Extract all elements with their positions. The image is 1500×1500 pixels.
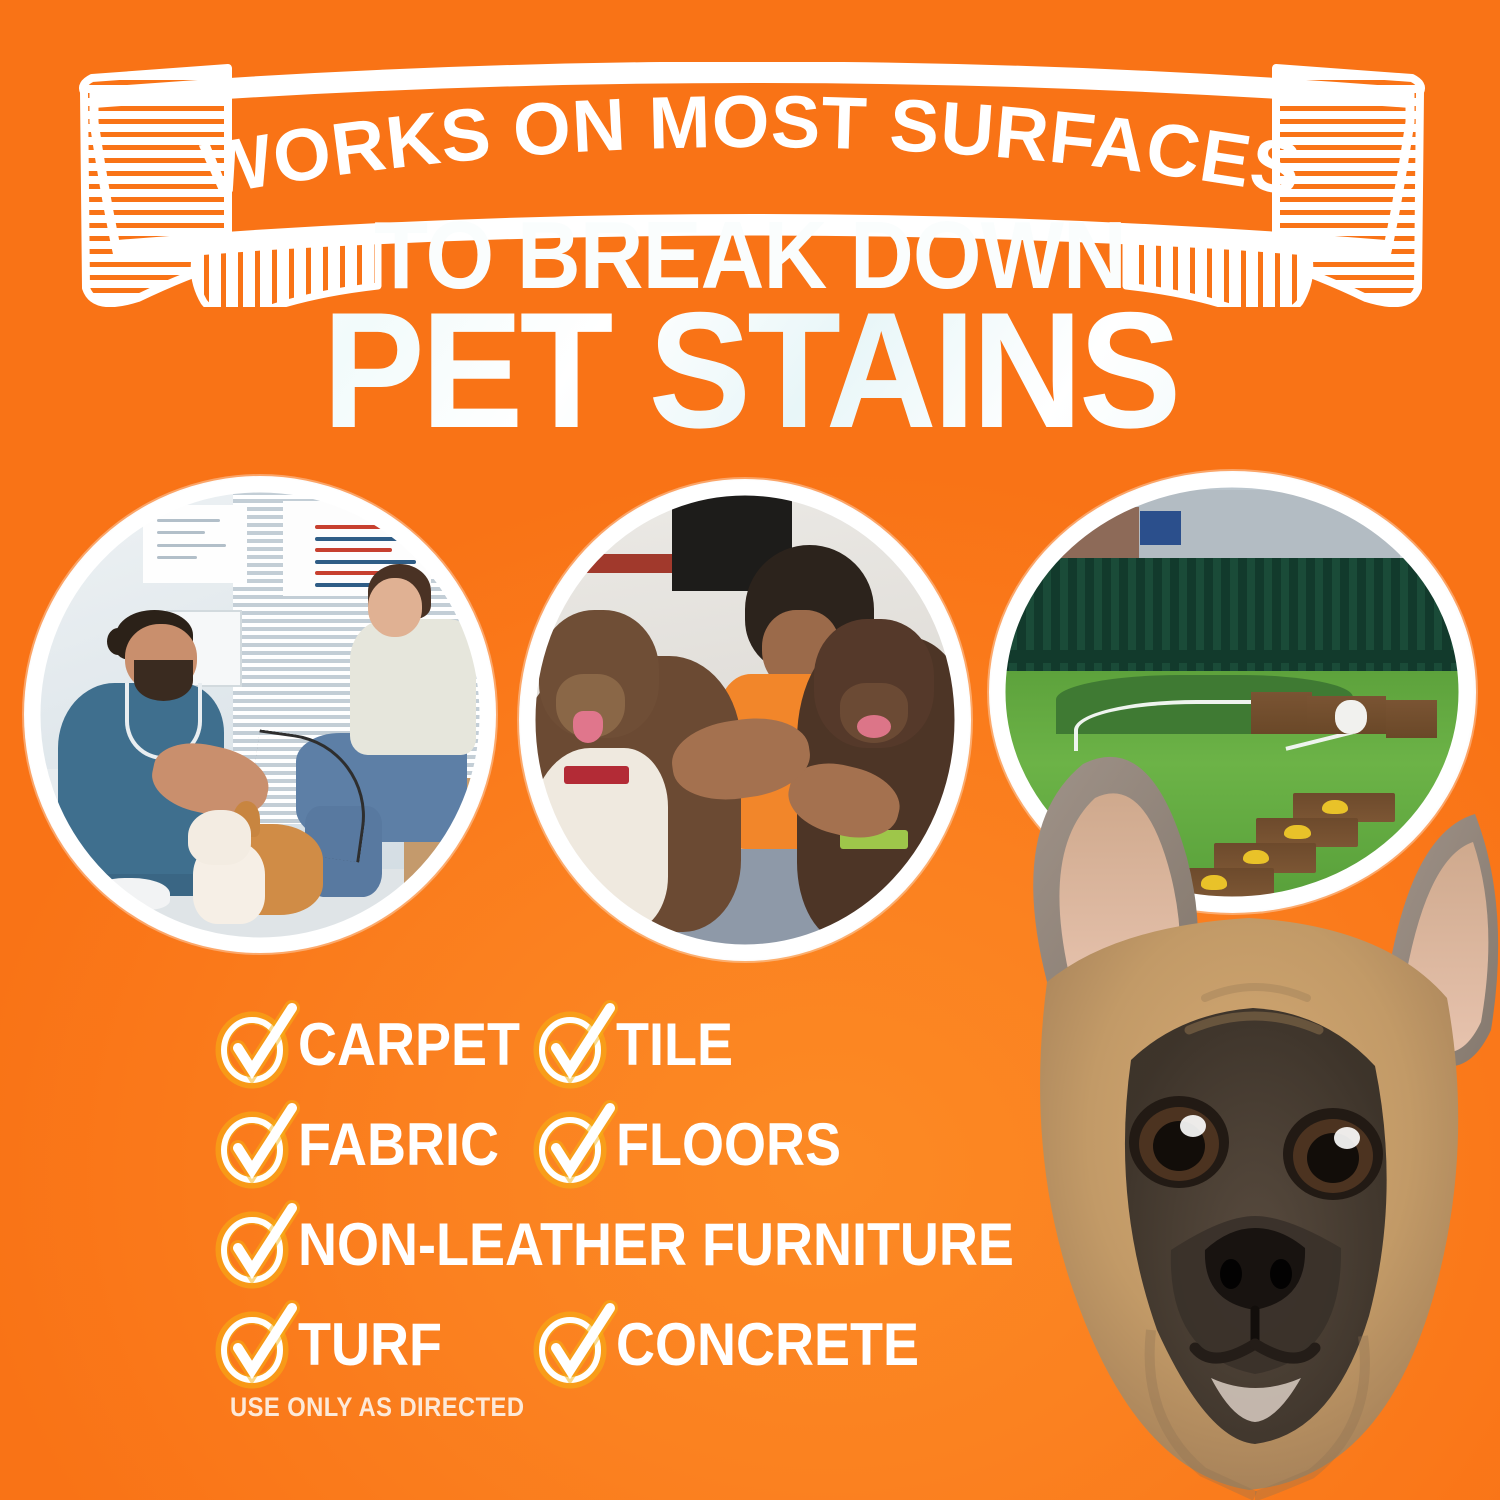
list-item-label: FABRIC	[298, 1115, 499, 1175]
list-item-label: NON-LEATHER FURNITURE	[298, 1215, 1014, 1275]
check-circle-icon	[222, 1114, 280, 1176]
check-circle-icon	[222, 1314, 280, 1376]
list-item-label: TURF	[298, 1315, 442, 1375]
french-bulldog-puppy	[955, 730, 1500, 1500]
headline-line-2: PET STAINS	[53, 300, 1448, 442]
list-item-label: TILE	[616, 1015, 733, 1075]
list-item-label: FLOORS	[616, 1115, 841, 1175]
list-item: FLOORS	[540, 1114, 866, 1176]
vet-clinic-photo	[35, 487, 485, 942]
list-item: TURF	[222, 1314, 540, 1376]
check-circle-icon	[222, 1014, 280, 1076]
child-with-dogs-photo	[530, 490, 960, 950]
svg-text:WORKS ON MOST SURFACES: WORKS ON MOST SURFACES	[196, 80, 1308, 212]
list-item: CONCRETE	[540, 1314, 953, 1376]
list-item-label: CONCRETE	[616, 1315, 919, 1375]
list-item: CARPET	[222, 1014, 540, 1076]
promo-banner: WORKS ON MOST SURFACES TO BREAK DOWN PET…	[0, 0, 1500, 1500]
list-item: FABRIC	[222, 1114, 540, 1176]
ribbon-text: WORKS ON MOST SURFACES	[196, 80, 1308, 212]
list-item-label: CARPET	[298, 1015, 520, 1075]
check-circle-icon	[222, 1214, 280, 1276]
disclaimer-text: USE ONLY AS DIRECTED	[230, 1392, 524, 1423]
check-circle-icon	[540, 1014, 598, 1076]
list-item: TILE	[540, 1014, 746, 1076]
check-circle-icon	[540, 1114, 598, 1176]
check-circle-icon	[540, 1314, 598, 1376]
